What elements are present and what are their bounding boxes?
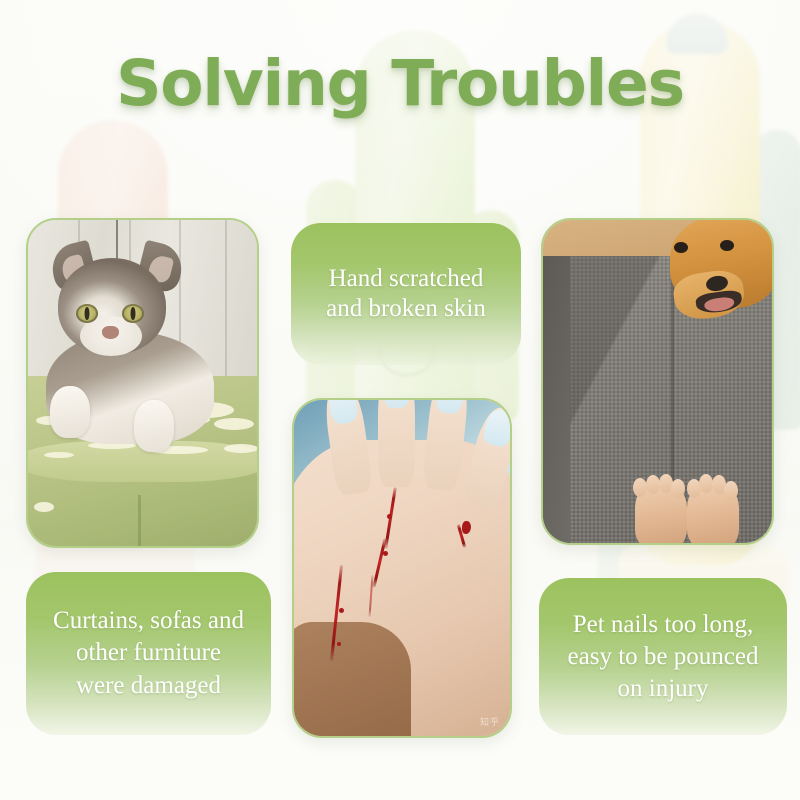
bare-foot-left: [635, 483, 687, 543]
photo-card-cat-scratching-sofa: [26, 218, 259, 548]
dog-eye-left: [674, 242, 688, 253]
photo-card-dog-on-sofa: [541, 218, 774, 545]
caption-line: Hand scratched: [329, 265, 484, 292]
page-title: Solving Troubles: [0, 52, 800, 116]
sofa-left-edge: [543, 256, 570, 543]
caption-line: Curtains, sofas and: [53, 607, 244, 634]
photo-content: [543, 220, 772, 543]
photo-card-scratched-hand: 知乎: [292, 398, 512, 738]
cat-paw-left: [50, 386, 90, 438]
photo-content: [28, 220, 257, 546]
caption-text: Hand scratched and broken skin: [326, 264, 486, 325]
caption-box-hand-injury: Hand scratched and broken skin: [291, 223, 521, 365]
dog-eye-right: [720, 240, 734, 251]
caption-box-long-nails: Pet nails too long, easy to be pounced o…: [539, 578, 787, 735]
blood-spot-3: [383, 551, 388, 556]
cat-eye-left: [76, 304, 98, 323]
caption-line: were damaged: [76, 672, 221, 699]
fingernail: [326, 400, 358, 425]
caption-line: Pet nails too long,: [573, 611, 754, 638]
forearm-shadow: [294, 622, 411, 736]
caption-line: on injury: [618, 675, 709, 702]
caption-box-furniture-damage: Curtains, sofas and other furniture were…: [26, 572, 271, 735]
caption-text: Pet nails too long, easy to be pounced o…: [568, 609, 759, 705]
sofa-seam: [138, 495, 141, 546]
photo-content: 知乎: [294, 400, 510, 736]
poster-canvas: Solving Troubles: [0, 0, 800, 800]
caption-line: other furniture: [76, 639, 221, 666]
finger-2: [378, 400, 415, 487]
caption-line: and broken skin: [326, 295, 486, 322]
fingernail: [383, 400, 409, 408]
caption-line: easy to be pounced: [568, 643, 759, 670]
cat-paw-right: [134, 400, 174, 452]
bare-foot-right: [687, 483, 739, 543]
photo-watermark: 知乎: [480, 715, 500, 728]
caption-text: Curtains, sofas and other furniture were…: [53, 605, 244, 703]
cat-nose: [102, 326, 119, 339]
fingernail: [435, 400, 466, 415]
cat-eye-right: [122, 304, 144, 323]
